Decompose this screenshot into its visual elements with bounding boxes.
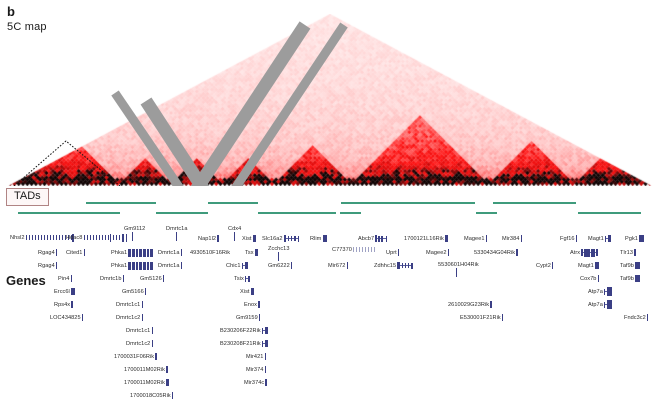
gene-model-glyph	[142, 301, 143, 308]
gene-model-glyph	[217, 235, 218, 242]
gene-label: 1700011M02Rik	[124, 379, 169, 386]
gene-name: Dmrtc1c2	[116, 315, 140, 321]
gene-label: Ercc6l	[54, 288, 75, 295]
gene-model-glyph	[255, 249, 258, 256]
gene-tick-icon	[132, 232, 133, 241]
gene-label: Chic1	[226, 262, 248, 269]
tad-bar	[340, 212, 361, 214]
gene-label: Phka1	[111, 249, 154, 256]
gene-model-glyph	[265, 366, 266, 373]
tad-bar	[258, 212, 336, 214]
gene-name: Zcchc13	[268, 246, 290, 252]
gene-model-glyph	[284, 235, 299, 242]
gene-name: Dmrtc1a	[158, 263, 180, 269]
gene-model-glyph	[265, 379, 266, 386]
gene-name: 1700031F06Rik	[114, 354, 154, 360]
gene-model-glyph	[251, 288, 254, 295]
gene-name: Dmrtc1c2	[126, 341, 150, 347]
gene-label: Cox7b	[580, 275, 599, 282]
gene-name: 1700121L16Rik	[404, 236, 444, 242]
gene-model-glyph	[242, 262, 248, 269]
gene-model-glyph	[521, 235, 522, 242]
gene-model-glyph	[172, 392, 173, 399]
genes-track: Genes Nhsl2Hdac8Gm9112Dmrtc1aCdx4Nap1l2X…	[0, 224, 659, 409]
gene-label: Zcchc13	[268, 246, 290, 263]
gene-name: Gm6222	[268, 263, 290, 269]
gene-name: Tsix	[234, 276, 244, 282]
gene-label: Zdhhc15	[374, 262, 413, 269]
gene-name: Dmrtc1c1	[126, 328, 150, 334]
gene-model-glyph	[245, 275, 250, 282]
gene-label: Atp7a	[588, 288, 612, 295]
gene-label: Rgag4	[38, 262, 57, 269]
gene-model-glyph	[253, 235, 256, 242]
gene-label: Abcb7	[358, 235, 387, 242]
gene-model-glyph	[605, 235, 611, 242]
tad-bar	[578, 212, 641, 214]
gene-model-glyph	[486, 235, 487, 242]
gene-name: B230208F21Rik	[220, 341, 261, 347]
gene-label: Gm6222	[268, 262, 292, 269]
tad-bar	[341, 202, 475, 204]
gene-label: Atp7a	[588, 301, 612, 308]
gene-label: Tsx	[245, 249, 258, 256]
gene-label: 1700121L16Rik	[404, 235, 448, 242]
gene-name: Slc16a2	[262, 236, 283, 242]
gene-name: Cdx4	[228, 226, 241, 232]
gene-name: 5530601H04Rik	[438, 262, 479, 268]
gene-model-glyph	[128, 262, 154, 269]
gene-name: Taf9b	[620, 263, 634, 269]
gene-model-glyph	[258, 301, 259, 308]
gene-name: Atp7a	[588, 289, 603, 295]
gene-name: Pgk1	[625, 236, 638, 242]
gene-label: Tlr13	[620, 249, 636, 256]
gene-label: Tsix	[234, 275, 250, 282]
gene-label: Dmrtc1c1	[116, 301, 143, 308]
gene-label: Rlim	[310, 235, 327, 242]
gene-label: Uprt	[386, 249, 399, 256]
gene-model-glyph	[152, 340, 153, 347]
gene-model-glyph	[71, 288, 75, 295]
gene-label: Gm5126	[140, 275, 164, 282]
gene-model-glyph	[604, 301, 612, 308]
gene-name: 4930510F16Rik	[190, 250, 230, 256]
gene-label: Nap1l2	[198, 235, 219, 242]
gene-label: Rps4x	[54, 301, 73, 308]
tads-track: TADs	[0, 186, 659, 222]
gene-model-glyph	[647, 314, 648, 321]
gene-name: Dmrtc1b	[100, 276, 122, 282]
gene-model-glyph	[604, 288, 612, 295]
gene-label: Dmrtc1c2	[126, 340, 153, 347]
gene-label: Magee2	[426, 249, 449, 256]
gene-model-glyph	[152, 327, 153, 334]
gene-name: Rgag4	[38, 263, 55, 269]
gene-model-glyph	[155, 353, 156, 360]
gene-name: Zdhhc15	[374, 263, 396, 269]
tad-bar	[156, 212, 208, 214]
gene-label: Taf9b	[620, 262, 640, 269]
gene-name: B230206F22Rik	[220, 328, 261, 334]
gene-label: 1700018C05Rik	[130, 392, 173, 399]
gene-name: Hdac8	[66, 235, 82, 241]
gene-label: Nhsl2	[10, 234, 74, 241]
gene-label: Hdac8	[66, 234, 127, 241]
gene-name: 1700011M02Rik	[124, 367, 165, 373]
gene-model-glyph	[262, 340, 268, 347]
gene-label: Dmrtc1a	[158, 249, 182, 256]
tads-label: TADs	[6, 188, 49, 206]
gene-name: Xist	[240, 289, 250, 295]
gene-model-glyph	[123, 275, 124, 282]
gene-model-glyph	[398, 249, 399, 256]
gene-label: Phka1	[111, 262, 154, 269]
gene-name: Rgag4	[38, 250, 55, 256]
gene-name: Magee2	[426, 250, 447, 256]
gene-label: 5530601H04Rik	[438, 262, 479, 279]
gene-model-glyph	[71, 301, 72, 308]
gene-name: Mir421	[246, 354, 263, 360]
gene-name: Mir672	[328, 263, 345, 269]
gene-name: Ercc6l	[54, 289, 70, 295]
gene-label: Fgf16	[560, 235, 577, 242]
gene-model-glyph	[323, 235, 327, 242]
gene-model-glyph	[84, 234, 128, 241]
gene-name: 2610029G23Rik	[448, 302, 489, 308]
gene-label: Mir672	[328, 262, 348, 269]
gene-name: Gm9159	[236, 315, 258, 321]
gene-model-glyph	[353, 246, 375, 253]
gene-name: Fgf16	[560, 236, 575, 242]
gene-name: Mir384	[502, 236, 519, 242]
gene-label: 4930510F16Rik	[190, 249, 231, 256]
gene-label: Atrx	[570, 249, 598, 256]
tad-bar	[476, 212, 497, 214]
gene-label: Mir374	[246, 366, 266, 373]
gene-name: Nap1l2	[198, 236, 216, 242]
gene-model-glyph	[163, 275, 164, 282]
gene-model-glyph	[142, 314, 143, 321]
gene-name: Xist	[242, 236, 252, 242]
gene-label: 1700031F06Rik	[114, 353, 157, 360]
gene-name: Pin4	[58, 276, 69, 282]
gene-label: Taf9b	[620, 275, 640, 282]
gene-name: Magee1	[464, 236, 485, 242]
gene-label: Dmrtc1a	[158, 262, 182, 269]
gene-label: Mir374c	[244, 379, 267, 386]
gene-model-glyph	[634, 249, 635, 256]
gene-model-glyph	[347, 262, 348, 269]
gene-model-glyph	[516, 249, 517, 256]
gene-label: 1700011M02Rik	[124, 366, 168, 373]
gene-model-glyph	[82, 314, 83, 321]
gene-label: Xist	[240, 288, 254, 295]
gene-model-glyph	[181, 249, 182, 256]
gene-label: Rgag4	[38, 249, 57, 256]
gene-label: Cited1	[66, 249, 85, 256]
gene-name: Dmrtc1c1	[116, 302, 140, 308]
gene-model-glyph	[262, 327, 268, 334]
gene-label: Dmrtc1c1	[126, 327, 153, 334]
heatmap-region	[0, 14, 659, 186]
tad-bar	[18, 212, 120, 214]
gene-label: Mir421	[246, 353, 266, 360]
gene-name: Nhsl2	[10, 235, 25, 241]
gene-name: E530001F21Rik	[460, 315, 501, 321]
gene-name: Atp7a	[588, 302, 603, 308]
gene-model-glyph	[375, 235, 387, 242]
gene-model-glyph	[552, 262, 553, 269]
heatmap-mask-overlay	[0, 14, 659, 186]
tad-bar	[493, 202, 576, 204]
gene-model-glyph	[56, 249, 57, 256]
gene-model-glyph	[56, 262, 57, 269]
gene-label: Cypt2	[536, 262, 553, 269]
gene-model-glyph	[598, 275, 599, 282]
gene-label: Dmrtc1b	[100, 275, 124, 282]
gene-label: Magee1	[464, 235, 487, 242]
gene-label: LOC434825	[50, 314, 83, 321]
tad-outline-dotted	[14, 141, 120, 186]
gene-model-glyph	[576, 235, 577, 242]
gene-model-glyph	[181, 262, 182, 269]
genes-label: Genes	[6, 273, 46, 288]
gene-model-glyph	[145, 288, 146, 295]
gene-model-glyph	[265, 353, 266, 360]
gene-model-glyph	[635, 262, 639, 269]
gene-label: Magt1	[578, 262, 599, 269]
gene-name: Magt1	[578, 263, 594, 269]
gene-label: Dmrtc1a	[166, 226, 188, 243]
tad-bar	[86, 202, 156, 204]
gene-name: Phka1	[111, 263, 127, 269]
gene-tick-icon	[234, 232, 235, 241]
gene-name: Gm9112	[124, 226, 145, 232]
gene-name: Cited1	[66, 250, 82, 256]
gene-model-glyph	[291, 262, 292, 269]
gene-name: Rps4x	[54, 302, 70, 308]
gene-label: Enox	[244, 301, 260, 308]
gene-name: Uprt	[386, 250, 397, 256]
gene-label: Pgk1	[625, 235, 644, 242]
gene-name: Rlim	[310, 236, 321, 242]
gene-label: Gm9159	[236, 314, 260, 321]
gene-name: Tlr13	[620, 250, 633, 256]
gene-name: LOC434825	[50, 315, 81, 321]
gene-model-glyph	[639, 235, 643, 242]
gene-label: 2610029G23Rik	[448, 301, 492, 308]
gene-label: Gm5166	[122, 288, 146, 295]
gene-label: Fndc3c2	[624, 314, 648, 321]
gene-name: Abcb7	[358, 236, 374, 242]
gene-label: Cdx4	[228, 226, 241, 243]
gene-label: 5330434G04Rik	[474, 249, 518, 256]
gene-name: Gm5126	[140, 276, 162, 282]
gene-name: Chic1	[226, 263, 241, 269]
gene-model-glyph	[259, 314, 260, 321]
gene-model-glyph	[166, 379, 169, 386]
gene-name: Cox7b	[580, 276, 596, 282]
gene-label: Mir384	[502, 235, 522, 242]
gene-model-glyph	[635, 275, 639, 282]
gene-label: Dmrtc1c2	[116, 314, 143, 321]
gene-model-glyph	[71, 275, 72, 282]
gene-model-glyph	[84, 249, 85, 256]
gene-tick-icon	[176, 232, 177, 241]
gene-name: Enox	[244, 302, 257, 308]
gene-model-glyph	[128, 249, 154, 256]
gene-model-glyph	[581, 249, 597, 256]
gene-label: Gm9112	[124, 226, 145, 243]
gene-name: Cypt2	[536, 263, 551, 269]
gene-label: C77370	[332, 246, 375, 253]
gene-tick-icon	[278, 252, 279, 261]
gene-label: Pin4	[58, 275, 72, 282]
gene-name: Fndc3c2	[624, 315, 646, 321]
gene-name: Gm5166	[122, 289, 144, 295]
gene-tick-icon	[456, 268, 457, 277]
gene-name: Dmrtc1a	[158, 250, 180, 256]
gene-model-glyph	[445, 235, 448, 242]
gene-name: Taf9b	[620, 276, 634, 282]
gene-label: B230206F22Rik	[220, 327, 268, 334]
gene-name: 1700018C05Rik	[130, 393, 171, 399]
gene-name: Magt1	[588, 236, 604, 242]
gene-name: Atrx	[570, 250, 580, 256]
gene-name: Dmrtc1a	[166, 226, 188, 232]
gene-label: Slc16a2	[262, 235, 299, 242]
gene-name: Tsx	[245, 250, 254, 256]
tad-bar	[208, 202, 258, 204]
gene-model-glyph	[166, 366, 167, 373]
gene-name: Phka1	[111, 250, 127, 256]
gene-model-glyph	[448, 249, 449, 256]
gene-label: B230208F21Rik	[220, 340, 268, 347]
gene-name: Mir374	[246, 367, 263, 373]
gene-label: Magt1	[588, 235, 611, 242]
gene-label: Xist	[242, 235, 256, 242]
gene-name: 1700011M02Rik	[124, 380, 165, 386]
gene-model-glyph	[595, 262, 599, 269]
gene-label: E530001F21Rik	[460, 314, 503, 321]
gene-model-glyph	[397, 262, 412, 269]
gene-name: Mir374c	[244, 380, 264, 386]
gene-model-glyph	[502, 314, 503, 321]
gene-name: C77370	[332, 247, 352, 253]
gene-model-glyph	[490, 301, 491, 308]
gene-name: 5330434G04Rik	[474, 250, 515, 256]
